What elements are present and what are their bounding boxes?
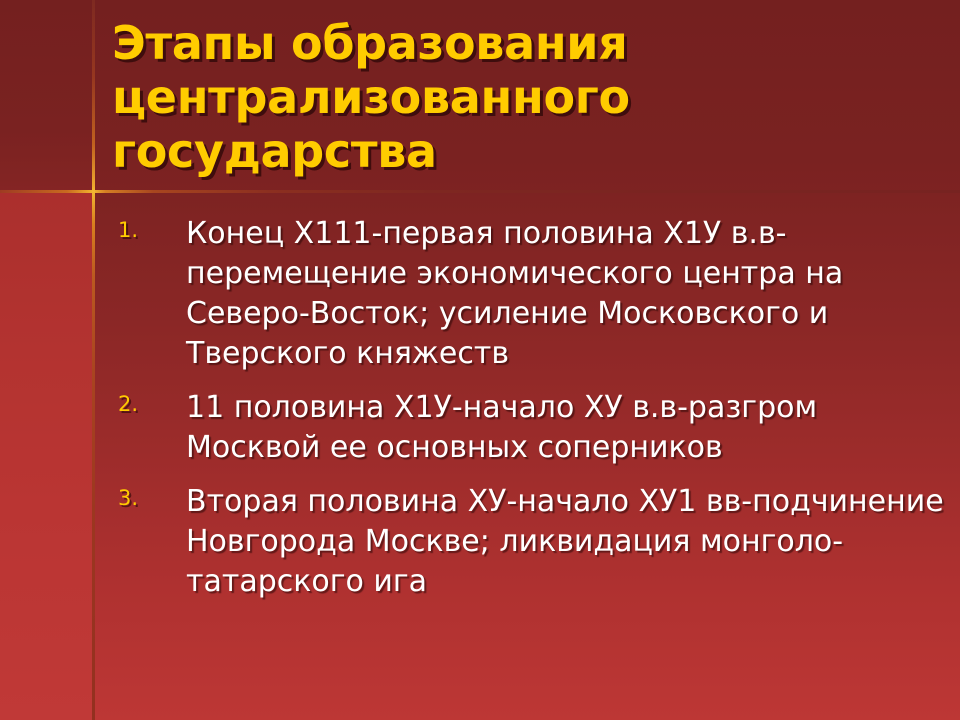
list-item: 2. 11 половина X1У-начало ХУ в.в-разгром… <box>112 388 952 468</box>
list-item: 1. Конец X111-первая половина X1У в.в-пе… <box>112 214 952 374</box>
list-item-number: 3. <box>118 488 158 509</box>
list-item-text: 11 половина X1У-начало ХУ в.в-разгром Мо… <box>186 390 817 465</box>
horizontal-accent-rule <box>0 190 960 193</box>
list-item-text: Вторая половина ХУ-начало ХУ1 вв-подчине… <box>186 484 944 599</box>
slide-title: Этапы образования централизованного госу… <box>112 16 942 178</box>
left-accent-strip-lower <box>0 192 93 720</box>
list-item: 3. Вторая половина ХУ-начало ХУ1 вв-подч… <box>112 482 952 602</box>
list-item-number: 1. <box>118 220 158 241</box>
vertical-accent-rule-top <box>92 0 95 192</box>
list-item-number: 2. <box>118 394 158 415</box>
list-item-text: Конец X111-первая половина X1У в.в-перем… <box>186 216 843 371</box>
vertical-accent-rule-bottom <box>92 192 95 720</box>
slide-bullet-list: 1. Конец X111-первая половина X1У в.в-пе… <box>112 214 952 616</box>
presentation-slide: Этапы образования централизованного госу… <box>0 0 960 720</box>
